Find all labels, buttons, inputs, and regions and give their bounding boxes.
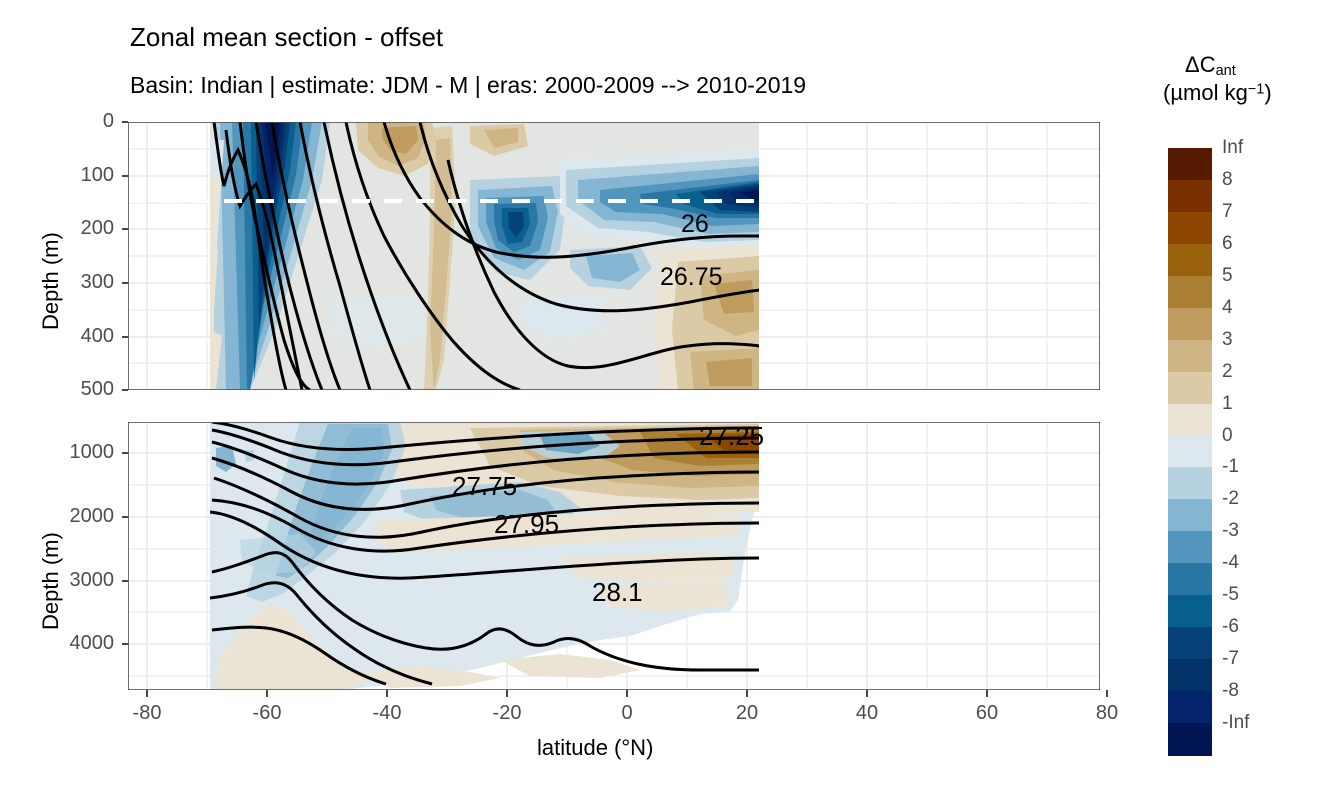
xtick-40: 40 xyxy=(856,702,878,725)
contour-label-27-75: 27.75 xyxy=(452,471,517,501)
colorbar-label-7: 7 xyxy=(1222,201,1233,223)
colorbar-band-15 xyxy=(1168,627,1212,660)
ytick-upper-400: 400 xyxy=(58,325,114,348)
xtick-0: 0 xyxy=(621,702,632,725)
contour-label-28-1: 28.1 xyxy=(592,577,643,607)
contour-label-26: 26 xyxy=(681,210,709,238)
contour-label-27-95: 27.95 xyxy=(494,509,559,539)
colorbar-band-1 xyxy=(1168,180,1212,213)
colorbar-label-0: 0 xyxy=(1222,425,1233,447)
colorbar-label-Inf: Inf xyxy=(1222,137,1243,159)
colorbar-band-14 xyxy=(1168,595,1212,628)
colorbar-band-18 xyxy=(1168,723,1212,756)
colorbar-label--6: -6 xyxy=(1222,616,1239,638)
figure-canvas: Zonal mean section - offset Basin: India… xyxy=(0,0,1344,806)
legend-title-line2: (µmol kg−1) xyxy=(1163,80,1272,106)
colorbar-label--3: -3 xyxy=(1222,520,1239,542)
xtick-20: 20 xyxy=(736,702,758,725)
ytick-upper-300: 300 xyxy=(58,271,114,294)
xtick--80: -80 xyxy=(133,702,162,725)
colorbar-band-9 xyxy=(1168,436,1212,469)
ytick-upper-200: 200 xyxy=(58,217,114,240)
colorbar-label-8: 8 xyxy=(1222,169,1233,191)
colorbar-band-8 xyxy=(1168,404,1212,437)
colorbar-label--4: -4 xyxy=(1222,552,1239,574)
colorbar-label--7: -7 xyxy=(1222,648,1239,670)
colorbar-label--Inf: -Inf xyxy=(1222,712,1249,734)
ytick-upper-100: 100 xyxy=(58,164,114,187)
ytick-lower-2000: 2000 xyxy=(42,505,114,528)
colorbar-label-5: 5 xyxy=(1222,265,1233,287)
xtick-80: 80 xyxy=(1096,702,1118,725)
upper-panel: 26 26.75 xyxy=(128,122,1107,390)
colorbar-band-6 xyxy=(1168,340,1212,373)
xtick--40: -40 xyxy=(373,702,402,725)
plot-svg: 26 26.75 xyxy=(0,0,1344,806)
contour-label-26-75: 26.75 xyxy=(660,263,723,291)
colorbar-band-0 xyxy=(1168,148,1212,181)
colorbar-label--1: -1 xyxy=(1222,456,1239,478)
y-axis-label-lower: Depth (m) xyxy=(38,532,64,630)
colorbar-label-4: 4 xyxy=(1222,297,1233,319)
colorbar-band-5 xyxy=(1168,308,1212,341)
xtick--20: -20 xyxy=(493,702,522,725)
xtick-60: 60 xyxy=(976,702,998,725)
colorbar-band-12 xyxy=(1168,531,1212,564)
contour-label-27-25: 27.25 xyxy=(699,421,764,451)
colorbar-band-2 xyxy=(1168,212,1212,245)
ytick-upper-500: 500 xyxy=(58,378,114,401)
ytick-lower-1000: 1000 xyxy=(42,441,114,464)
colorbar-label-3: 3 xyxy=(1222,329,1233,351)
colorbar-band-10 xyxy=(1168,467,1212,500)
colorbar-band-4 xyxy=(1168,276,1212,309)
ytick-lower-4000: 4000 xyxy=(42,632,114,655)
colorbar-band-11 xyxy=(1168,499,1212,532)
colorbar-band-13 xyxy=(1168,563,1212,596)
colorbar-label-6: 6 xyxy=(1222,233,1233,255)
colorbar-band-7 xyxy=(1168,372,1212,405)
colorbar-band-16 xyxy=(1168,659,1212,692)
y-axis-label-upper: Depth (m) xyxy=(38,232,64,330)
xtick--60: -60 xyxy=(253,702,282,725)
colorbar-band-17 xyxy=(1168,691,1212,724)
x-axis-label: latitude (°N) xyxy=(537,735,653,761)
colorbar-label-2: 2 xyxy=(1222,361,1233,383)
colorbar-label--8: -8 xyxy=(1222,680,1239,702)
colorbar-label--2: -2 xyxy=(1222,488,1239,510)
ytick-upper-0: 0 xyxy=(58,110,114,133)
colorbar-label-1: 1 xyxy=(1222,393,1233,415)
legend-title-line1: ΔCant xyxy=(1185,52,1236,79)
lower-panel: 27.25 27.75 27.95 28.1 xyxy=(128,421,1100,690)
colorbar-label--5: -5 xyxy=(1222,584,1239,606)
colorbar-band-3 xyxy=(1168,244,1212,277)
